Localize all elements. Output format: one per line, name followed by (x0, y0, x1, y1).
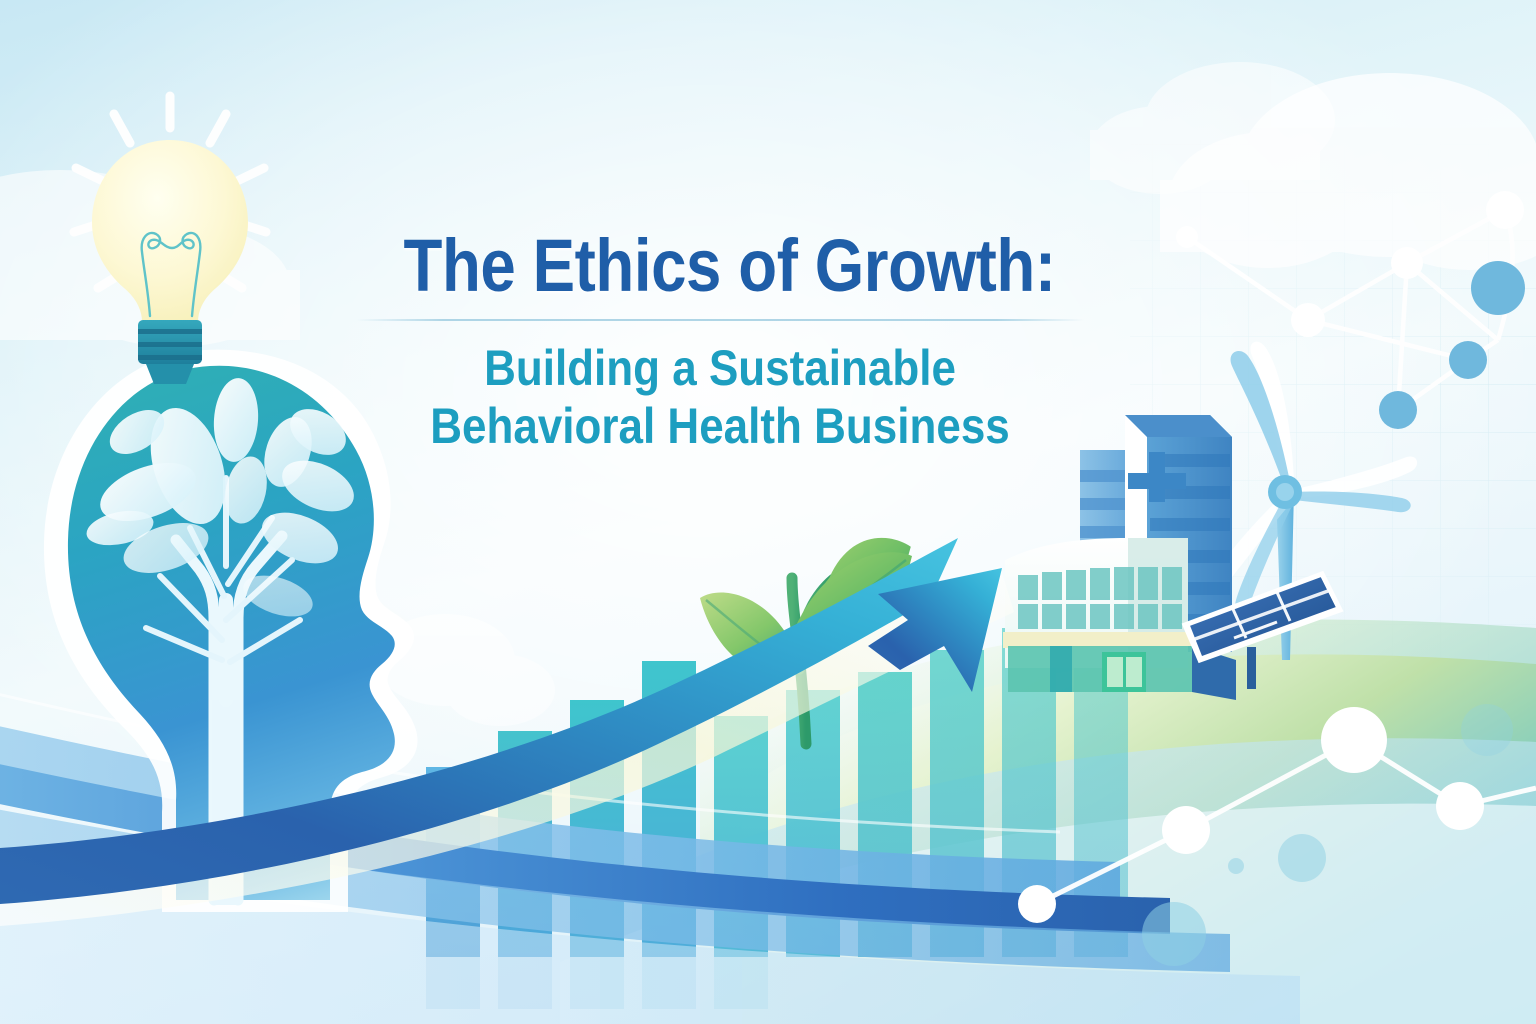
subtitle-line-1: Building a Sustainable (396, 339, 1044, 397)
title-divider (356, 319, 1084, 321)
subtitle-line-2: Behavioral Health Business (396, 397, 1044, 455)
network-node (1486, 191, 1524, 229)
poster-canvas: The Ethics of Growth: Building a Sustain… (0, 0, 1536, 1024)
network-graph-top-right (1176, 191, 1525, 429)
network-node (1321, 707, 1387, 773)
network-node (1391, 247, 1423, 279)
network-node (1291, 303, 1325, 337)
network-node (1162, 806, 1210, 854)
network-node (1449, 341, 1487, 379)
network-graphs (0, 0, 1536, 1024)
title-block: The Ethics of Growth: Building a Sustain… (352, 228, 1088, 455)
network-node (1176, 226, 1198, 248)
subtitle: Building a Sustainable Behavioral Health… (352, 339, 1088, 455)
network-graph-bottom-right (1018, 707, 1536, 923)
network-node (1018, 885, 1056, 923)
network-node (1436, 782, 1484, 830)
network-node (1379, 391, 1417, 429)
page-title: The Ethics of Growth: (404, 228, 1037, 305)
network-node (1471, 261, 1525, 315)
